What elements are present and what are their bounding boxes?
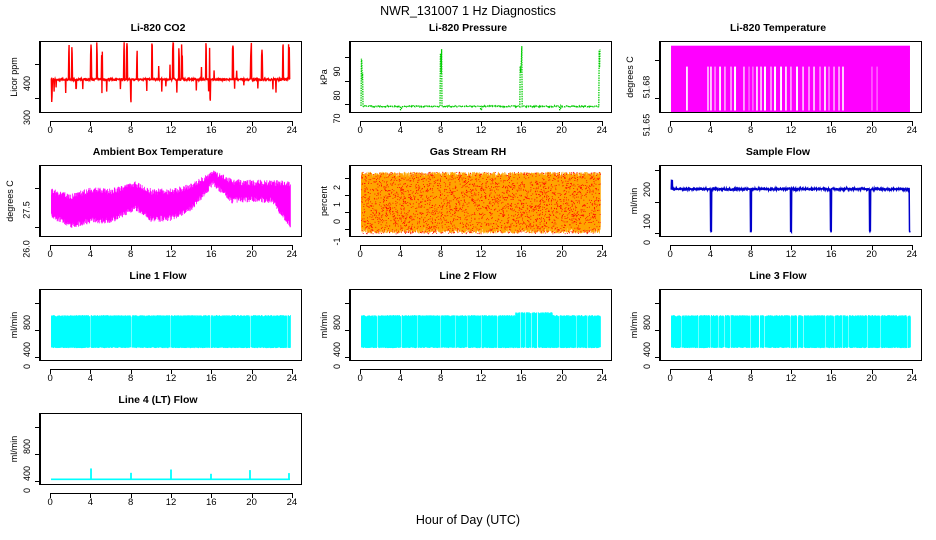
y-tick-label: 0	[28, 488, 37, 493]
y-tick-label: 51.68	[648, 76, 657, 99]
y-tick-label: 0	[338, 364, 347, 369]
y-tick-label: 800	[28, 439, 37, 454]
y-tick-label: 400	[28, 76, 37, 91]
x-tick-label: 16	[206, 498, 217, 508]
x-tick-label: 4	[708, 250, 713, 260]
x-tick-label: 16	[206, 250, 217, 260]
panel-ambient-box-temperature: Ambient Box Temperature26.027.5degrees C…	[2, 146, 314, 270]
y-axis-li820-pressure: 708090	[342, 41, 350, 113]
x-tick-label: 12	[786, 374, 797, 384]
y-tick-label: 26.0	[28, 240, 37, 258]
x-tick-label: 4	[398, 374, 403, 384]
x-tick-label: 0	[47, 250, 52, 260]
x-tick-label: 24	[907, 250, 918, 260]
x-tick-label: 4	[88, 250, 93, 260]
x-tick-label: 12	[476, 250, 487, 260]
x-axis-li820-pressure: 04812162024	[350, 113, 612, 135]
plot-area-ambient-box-temperature	[40, 165, 302, 237]
y-tick-label: -1	[338, 238, 347, 246]
x-tick-label: 16	[826, 374, 837, 384]
panel-title-li820-pressure: Li-820 Pressure	[312, 22, 624, 34]
panel-line-4-lt-flow: Line 4 (LT) Flow0400800ml/min04812162024	[2, 394, 314, 518]
y-axis-line-4-lt-flow: 0400800	[32, 413, 40, 485]
y-axis-title-li820-pressure: kPa	[319, 69, 329, 85]
y-tick-label: 800	[338, 315, 347, 330]
y-axis-title-line-1-flow: ml/min	[9, 312, 19, 339]
x-tick-label: 0	[667, 374, 672, 384]
y-axis-line-2-flow: 0400800	[342, 289, 350, 361]
x-tick-label: 8	[438, 126, 443, 136]
x-tick-label: 12	[166, 126, 177, 136]
x-tick-label: 8	[748, 126, 753, 136]
x-tick-label: 20	[556, 126, 567, 136]
panel-title-li820-temperature: Li-820 Temperature	[622, 22, 934, 34]
x-tick-label: 20	[866, 374, 877, 384]
x-tick-label: 8	[128, 250, 133, 260]
y-tick-label: 400	[28, 466, 37, 481]
y-axis-line-3-flow: 0400800	[652, 289, 660, 361]
y-tick-label: 800	[28, 315, 37, 330]
x-axis-sample-flow: 04812162024	[660, 237, 922, 259]
x-tick-label: 4	[88, 498, 93, 508]
y-axis-title-ambient-box-temperature: degrees C	[5, 180, 15, 222]
x-tick-label: 20	[246, 250, 257, 260]
y-axis-li820-co2: 300400	[32, 41, 40, 113]
x-tick-label: 4	[708, 126, 713, 136]
x-tick-label: 12	[476, 374, 487, 384]
panel-title-line-3-flow: Line 3 Flow	[622, 270, 934, 282]
panel-li820-pressure: Li-820 Pressure708090kPa04812162024	[312, 22, 624, 146]
x-tick-label: 0	[667, 126, 672, 136]
y-axis-title-line-2-flow: ml/min	[319, 312, 329, 339]
y-tick-label: 0	[338, 219, 347, 224]
y-tick-label: 2	[338, 185, 347, 190]
x-tick-label: 16	[826, 250, 837, 260]
y-tick-label: 70	[338, 113, 347, 123]
series-li820-co2	[41, 42, 301, 112]
y-axis-title-sample-flow: ml/min	[629, 188, 639, 215]
x-tick-label: 24	[287, 498, 298, 508]
plot-area-li820-temperature	[660, 41, 922, 113]
x-tick-label: 20	[556, 374, 567, 384]
x-tick-label: 4	[398, 126, 403, 136]
x-tick-label: 4	[398, 250, 403, 260]
x-tick-label: 4	[708, 374, 713, 384]
x-tick-label: 0	[357, 126, 362, 136]
panel-line-2-flow: Line 2 Flow0400800ml/min04812162024	[312, 270, 624, 394]
x-tick-label: 8	[128, 498, 133, 508]
plot-area-line-1-flow	[40, 289, 302, 361]
x-tick-label: 8	[748, 374, 753, 384]
plot-area-line-4-lt-flow	[40, 413, 302, 485]
x-tick-label: 20	[246, 126, 257, 136]
y-tick-label: 80	[338, 90, 347, 100]
series-line-3-flow	[661, 290, 921, 360]
plot-area-sample-flow	[660, 165, 922, 237]
panel-title-line-1-flow: Line 1 Flow	[2, 270, 314, 282]
series-li820-temperature	[661, 42, 921, 112]
figure-canvas: NWR_131007 1 Hz Diagnostics Li-820 CO230…	[0, 0, 936, 540]
panel-li820-temperature: Li-820 Temperature51.6551.68degrees C048…	[622, 22, 934, 146]
y-tick-label: 0	[648, 364, 657, 369]
x-axis-line-4-lt-flow: 04812162024	[40, 485, 302, 507]
y-tick-label: 27.5	[28, 201, 37, 219]
x-tick-label: 8	[438, 374, 443, 384]
panel-title-gas-stream-rh: Gas Stream RH	[312, 146, 624, 158]
y-tick-label: 0	[28, 364, 37, 369]
y-tick-label: 400	[28, 342, 37, 357]
x-tick-label: 24	[907, 374, 918, 384]
y-tick-label: 90	[338, 67, 347, 77]
x-tick-label: 16	[516, 126, 527, 136]
panel-sample-flow: Sample Flow0100200ml/min04812162024	[622, 146, 934, 270]
x-tick-label: 4	[88, 126, 93, 136]
y-axis-title-gas-stream-rh: percent	[319, 186, 329, 216]
series-li820-pressure	[351, 42, 611, 112]
x-tick-label: 0	[47, 498, 52, 508]
y-tick-label: 400	[338, 342, 347, 357]
y-axis-gas-stream-rh: -1012	[342, 165, 350, 237]
y-tick-label: 0	[648, 240, 657, 245]
plot-area-gas-stream-rh	[350, 165, 612, 237]
y-axis-line-1-flow: 0400800	[32, 289, 40, 361]
x-tick-label: 0	[357, 374, 362, 384]
x-tick-label: 16	[206, 374, 217, 384]
x-tick-label: 20	[866, 250, 877, 260]
x-tick-label: 8	[438, 250, 443, 260]
y-axis-title-li820-co2: Licor ppm	[9, 57, 19, 97]
series-line-2-flow	[351, 290, 611, 360]
x-tick-label: 0	[47, 374, 52, 384]
panel-line-3-flow: Line 3 Flow0400800ml/min04812162024	[622, 270, 934, 394]
panel-title-li820-co2: Li-820 CO2	[2, 22, 314, 34]
x-tick-label: 24	[287, 126, 298, 136]
series-gas-stream-rh	[351, 166, 611, 236]
series-line-1-flow	[41, 290, 301, 360]
x-tick-label: 16	[516, 250, 527, 260]
x-axis-line-1-flow: 04812162024	[40, 361, 302, 383]
panel-title-sample-flow: Sample Flow	[622, 146, 934, 158]
x-axis-gas-stream-rh: 04812162024	[350, 237, 612, 259]
x-tick-label: 24	[597, 250, 608, 260]
x-tick-label: 0	[357, 250, 362, 260]
x-tick-label: 16	[826, 126, 837, 136]
x-tick-label: 24	[597, 374, 608, 384]
y-tick-label: 300	[28, 110, 37, 125]
x-tick-label: 24	[287, 250, 298, 260]
x-tick-label: 8	[748, 250, 753, 260]
x-axis-line-3-flow: 04812162024	[660, 361, 922, 383]
y-tick-label: 400	[648, 342, 657, 357]
y-tick-label: 1	[338, 202, 347, 207]
y-tick-label: 200	[648, 182, 657, 197]
x-tick-label: 12	[166, 374, 177, 384]
panel-title-line-2-flow: Line 2 Flow	[312, 270, 624, 282]
x-tick-label: 12	[786, 126, 797, 136]
x-axis-li820-co2: 04812162024	[40, 113, 302, 135]
x-tick-label: 0	[47, 126, 52, 136]
x-tick-label: 20	[246, 498, 257, 508]
panel-li820-co2: Li-820 CO2300400Licor ppm04812162024	[2, 22, 314, 146]
plot-area-li820-co2	[40, 41, 302, 113]
x-tick-label: 12	[476, 126, 487, 136]
y-axis-li820-temperature: 51.6551.68	[652, 41, 660, 113]
y-tick-label: 51.65	[648, 114, 657, 137]
series-ambient-box-temperature	[41, 166, 301, 236]
series-line-4-lt-flow	[41, 414, 301, 484]
panel-line-1-flow: Line 1 Flow0400800ml/min04812162024	[2, 270, 314, 394]
x-tick-label: 24	[287, 374, 298, 384]
x-axis-li820-temperature: 04812162024	[660, 113, 922, 135]
plot-area-line-2-flow	[350, 289, 612, 361]
panel-title-line-4-lt-flow: Line 4 (LT) Flow	[2, 394, 314, 406]
x-tick-label: 12	[166, 498, 177, 508]
x-tick-label: 12	[786, 250, 797, 260]
x-tick-label: 16	[206, 126, 217, 136]
x-tick-label: 20	[866, 126, 877, 136]
y-axis-title-li820-temperature: degrees C	[625, 56, 635, 98]
panel-title-ambient-box-temperature: Ambient Box Temperature	[2, 146, 314, 158]
x-tick-label: 0	[667, 250, 672, 260]
x-tick-label: 20	[556, 250, 567, 260]
x-tick-label: 20	[246, 374, 257, 384]
panel-gas-stream-rh: Gas Stream RH-1012percent04812162024	[312, 146, 624, 270]
x-tick-label: 24	[597, 126, 608, 136]
figure-x-axis-label: Hour of Day (UTC)	[0, 513, 936, 527]
y-axis-sample-flow: 0100200	[652, 165, 660, 237]
y-axis-title-line-3-flow: ml/min	[629, 312, 639, 339]
plot-area-line-3-flow	[660, 289, 922, 361]
x-axis-line-2-flow: 04812162024	[350, 361, 612, 383]
x-tick-label: 8	[128, 374, 133, 384]
x-tick-label: 12	[166, 250, 177, 260]
x-tick-label: 16	[516, 374, 527, 384]
y-axis-ambient-box-temperature: 26.027.5	[32, 165, 40, 237]
x-tick-label: 4	[88, 374, 93, 384]
series-sample-flow	[661, 166, 921, 236]
x-tick-label: 8	[128, 126, 133, 136]
y-tick-label: 800	[648, 315, 657, 330]
x-tick-label: 24	[907, 126, 918, 136]
y-tick-label: 100	[648, 214, 657, 229]
y-axis-title-line-4-lt-flow: ml/min	[9, 436, 19, 463]
x-axis-ambient-box-temperature: 04812162024	[40, 237, 302, 259]
figure-title: NWR_131007 1 Hz Diagnostics	[0, 4, 936, 18]
plot-area-li820-pressure	[350, 41, 612, 113]
